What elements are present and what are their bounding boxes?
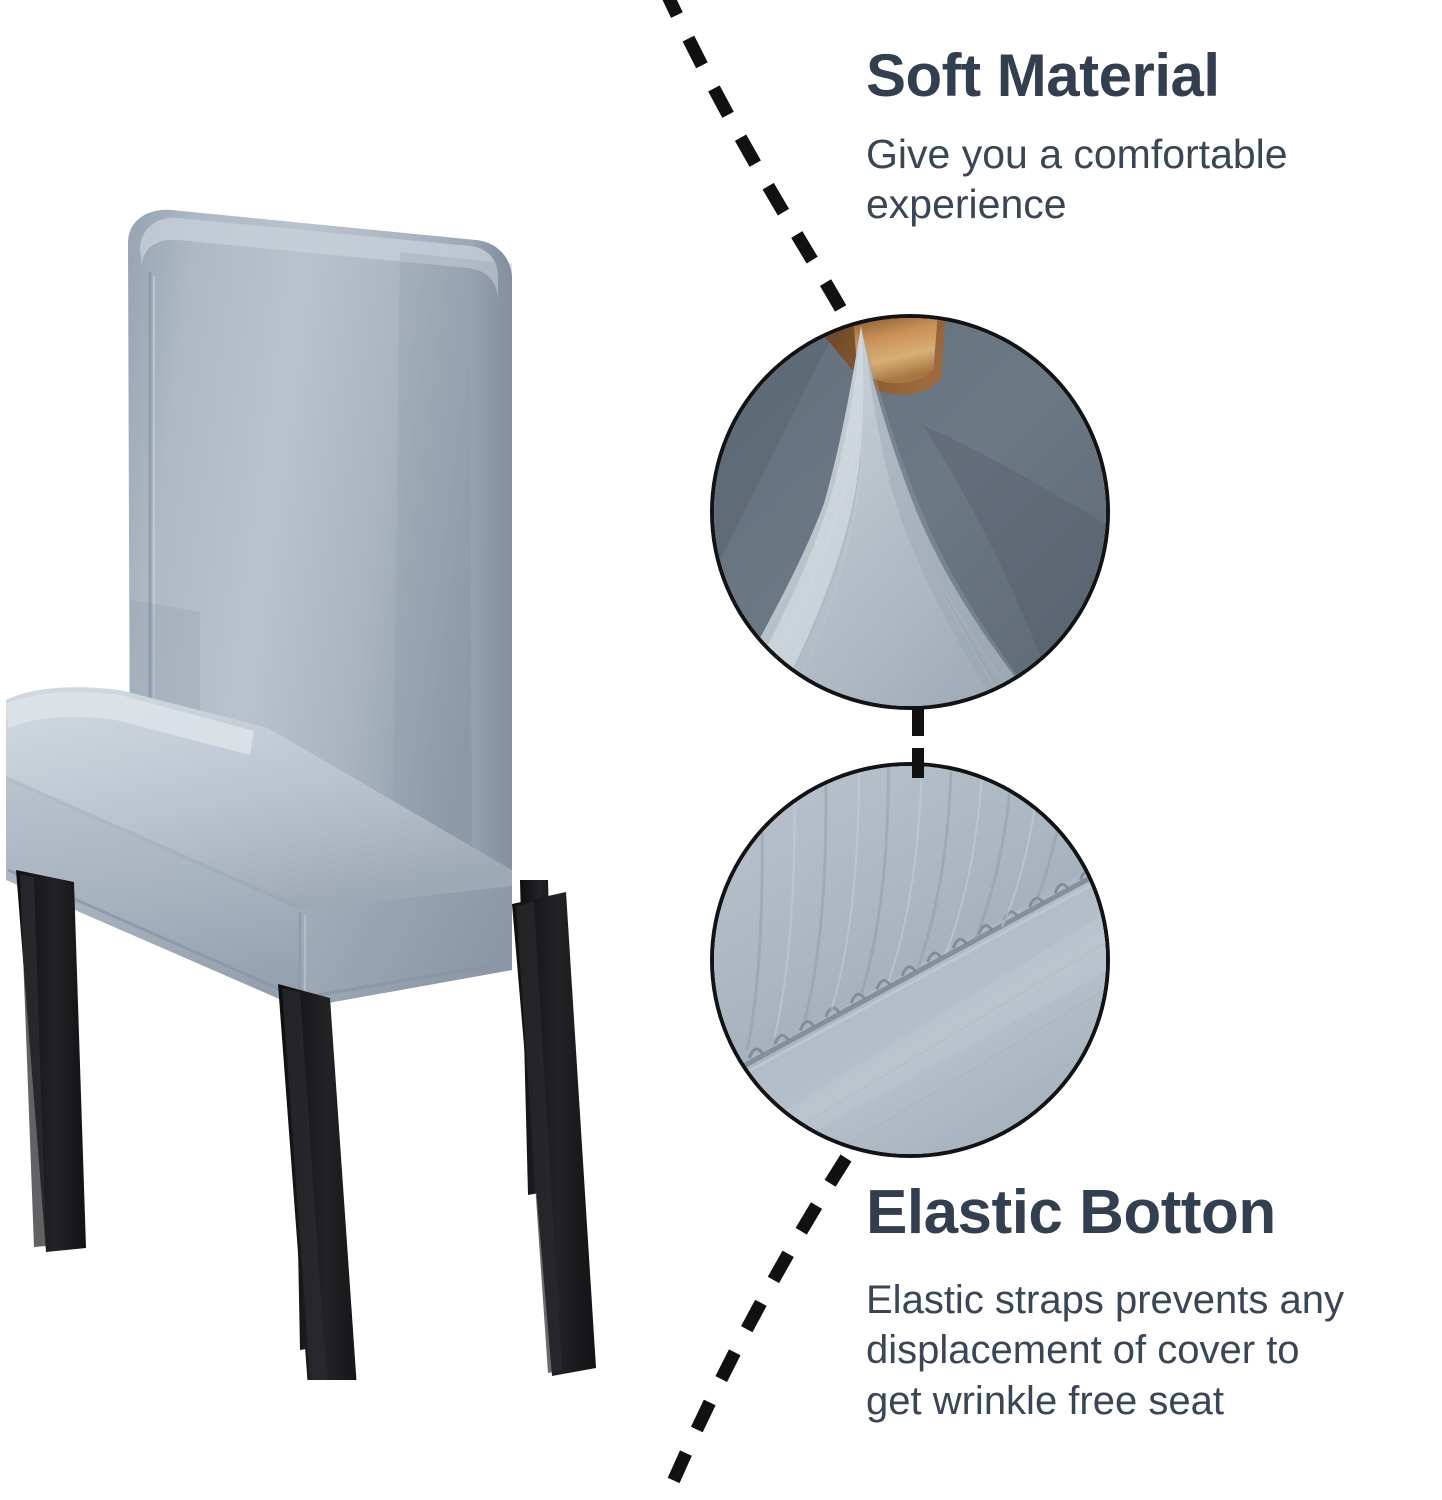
elastic-botton-text-block: Elastic Botton Elastic straps prevents a… xyxy=(866,1180,1426,1426)
product-infographic: Soft Material Give you a comfortable exp… xyxy=(0,0,1442,1500)
soft-material-detail-photo xyxy=(710,314,1110,710)
elastic-botton-detail-photo xyxy=(710,762,1110,1158)
elastic-botton-subtext-line-2: displacement of cover to xyxy=(866,1325,1426,1375)
elastic-botton-subtext-line-3: get wrinkle free seat xyxy=(866,1376,1426,1426)
elastic-botton-subtext-line-1: Elastic straps prevents any xyxy=(866,1275,1426,1325)
soft-material-headline: Soft Material xyxy=(866,44,1386,109)
elastic-botton-headline: Elastic Botton xyxy=(866,1180,1426,1247)
soft-material-subtext-line-2: experience xyxy=(866,179,1386,229)
soft-material-subtext-line-1: Give you a comfortable xyxy=(866,129,1386,179)
soft-material-text-block: Soft Material Give you a comfortable exp… xyxy=(866,44,1386,229)
chair-photo xyxy=(0,180,700,1380)
